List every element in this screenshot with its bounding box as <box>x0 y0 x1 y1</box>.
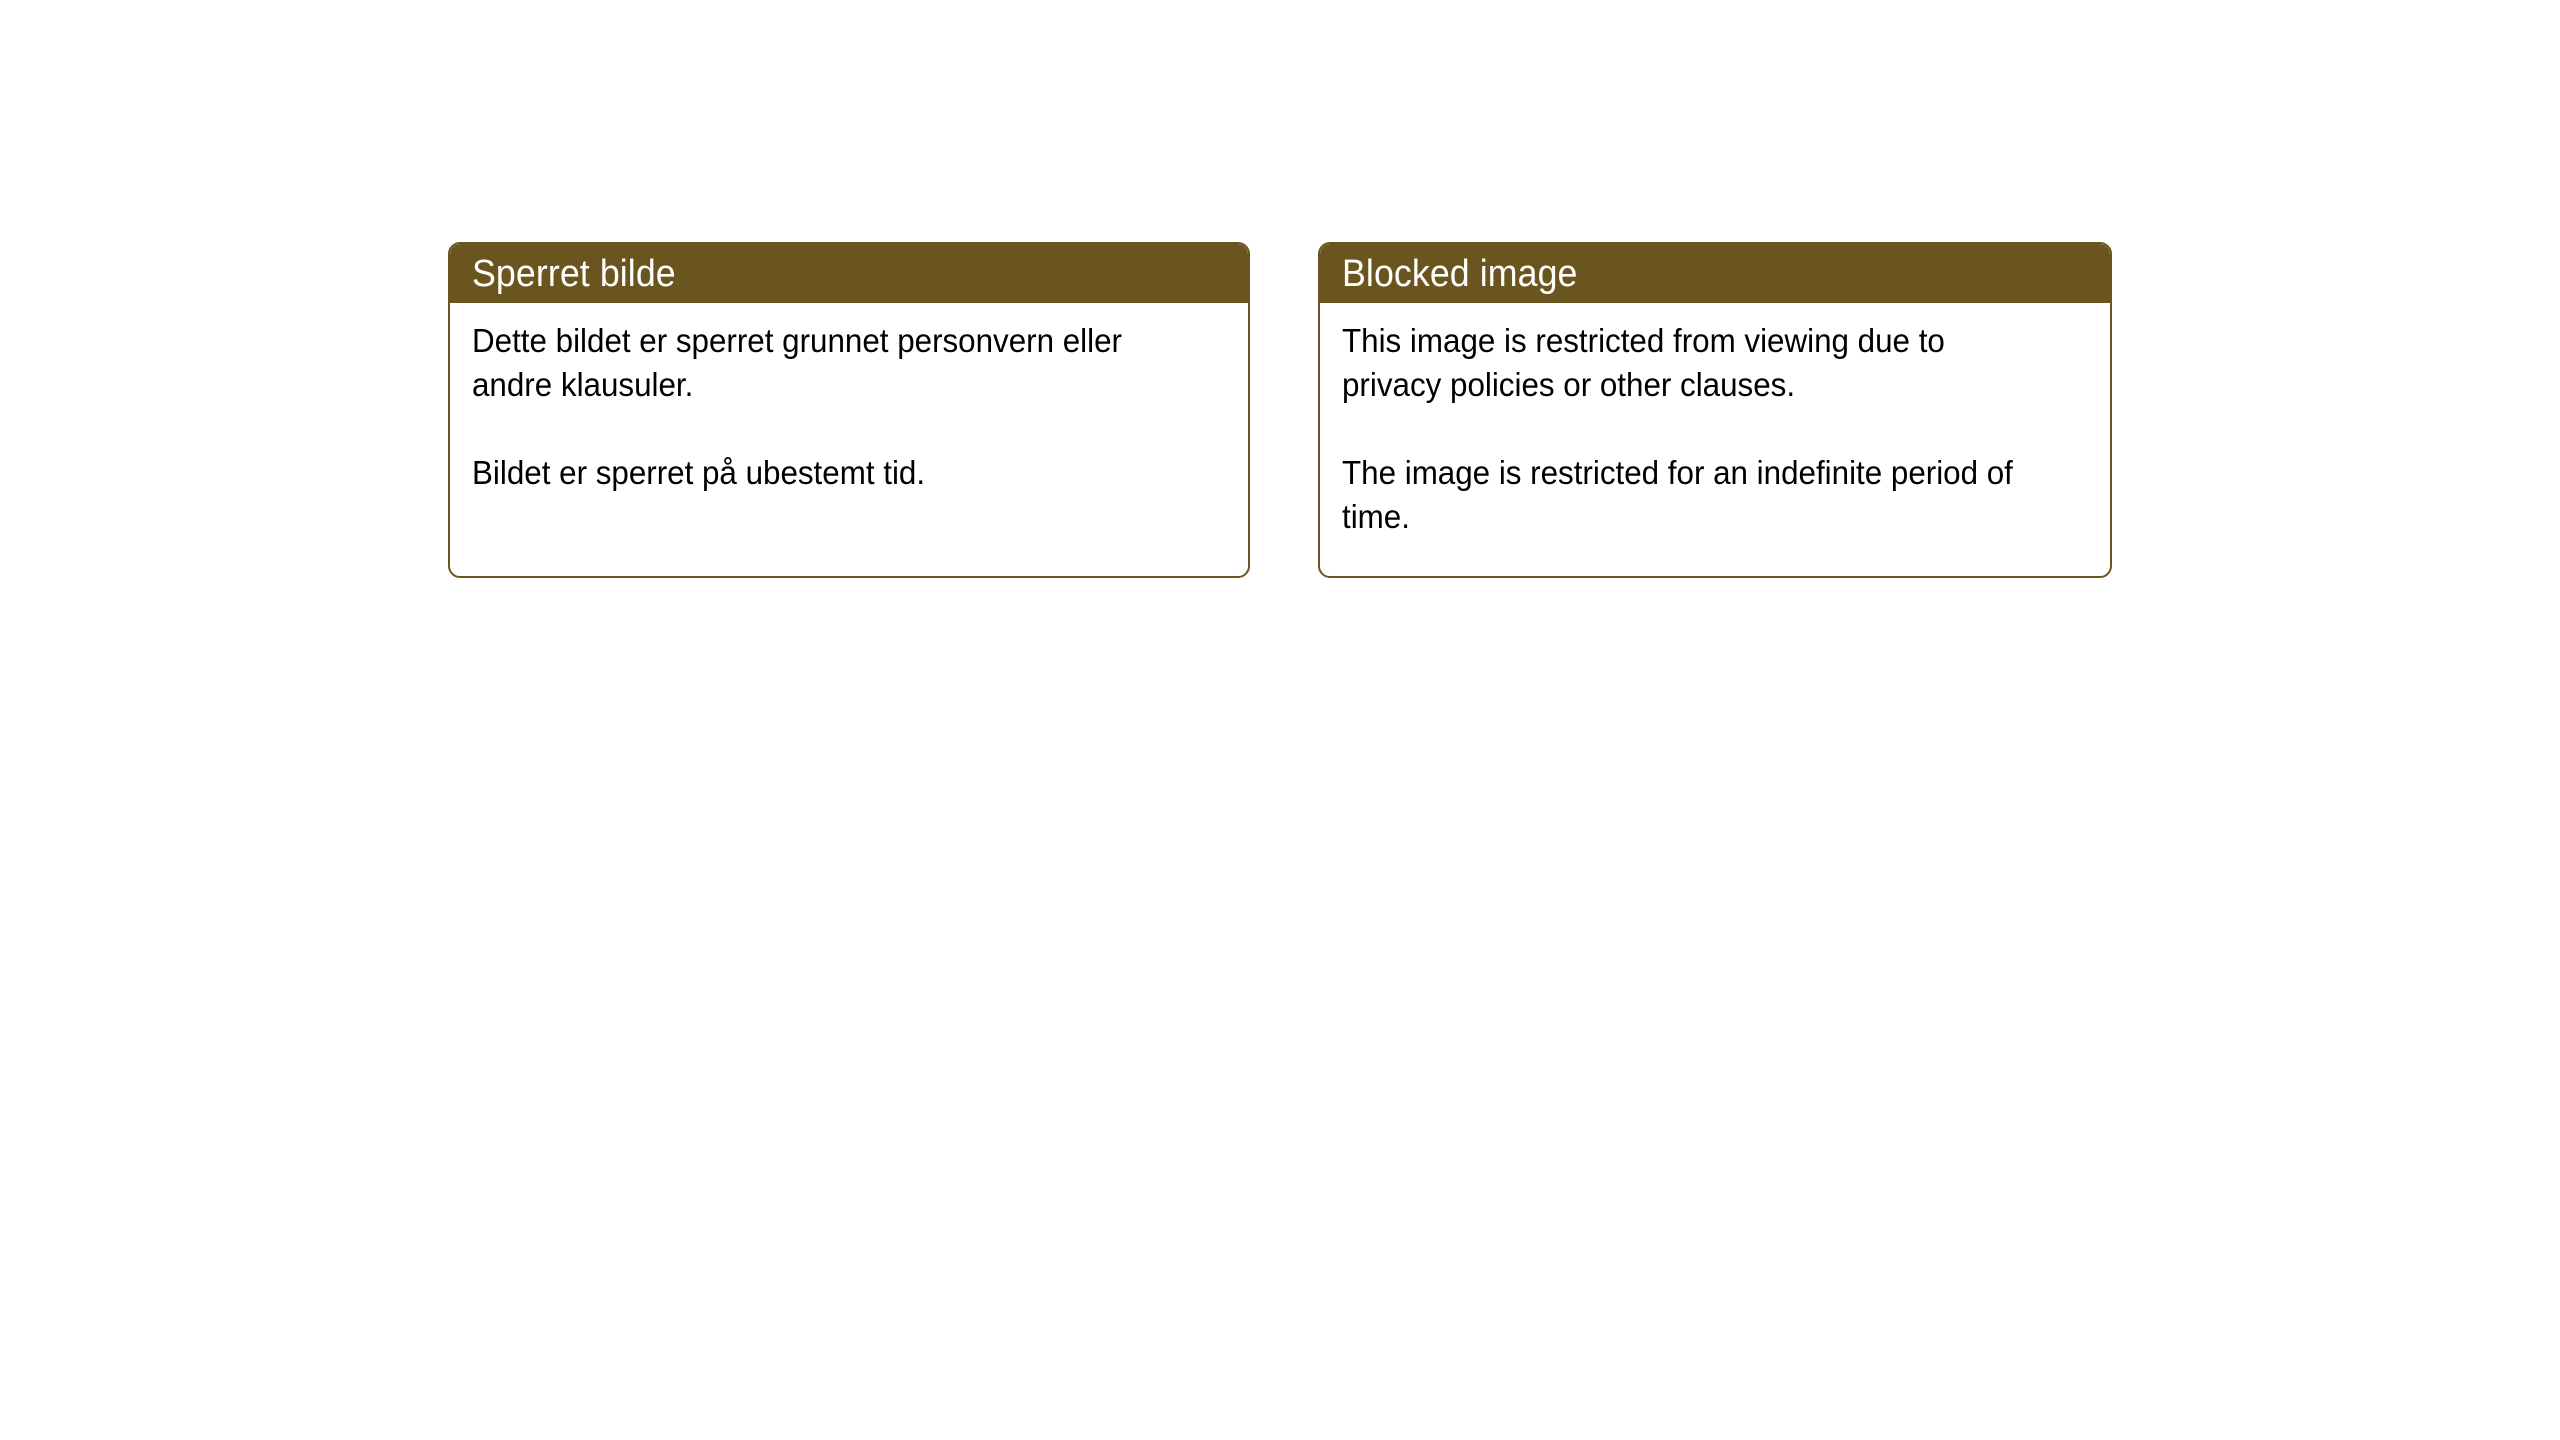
page-canvas: Sperret bilde Dette bildet er sperret gr… <box>0 0 2560 1440</box>
card-header-norwegian: Sperret bilde <box>450 244 1248 303</box>
card-paragraph-secondary-norwegian: Bildet er sperret på ubestemt tid. <box>472 451 1186 495</box>
card-header-english: Blocked image <box>1320 244 2110 303</box>
card-body-norwegian: Dette bildet er sperret grunnet personve… <box>450 303 1248 495</box>
blocked-image-card-norwegian: Sperret bilde Dette bildet er sperret gr… <box>448 242 1250 578</box>
card-paragraph-primary-english: This image is restricted from viewing du… <box>1342 319 2049 407</box>
card-paragraph-primary-norwegian: Dette bildet er sperret grunnet personve… <box>472 319 1186 407</box>
card-title-english: Blocked image <box>1342 254 1578 294</box>
card-body-english: This image is restricted from viewing du… <box>1320 303 2110 539</box>
blocked-image-card-english: Blocked image This image is restricted f… <box>1318 242 2112 578</box>
card-title-norwegian: Sperret bilde <box>472 254 676 294</box>
card-paragraph-secondary-english: The image is restricted for an indefinit… <box>1342 451 2049 539</box>
